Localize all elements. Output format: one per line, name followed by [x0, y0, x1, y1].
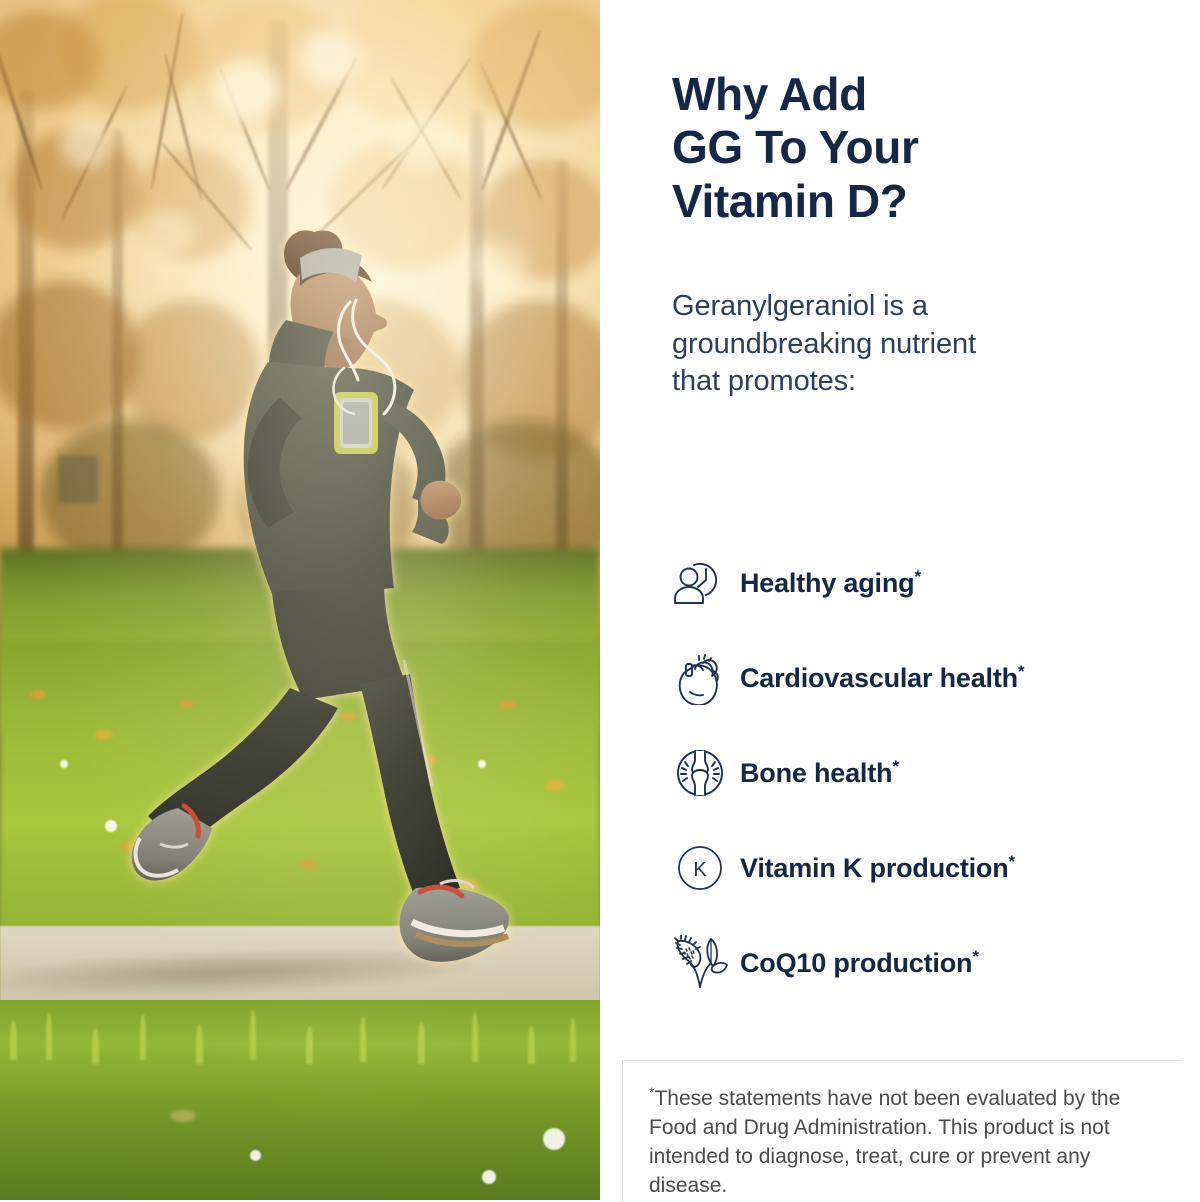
disclaimer-text: *These statements have not been evaluate… — [649, 1083, 1156, 1201]
bone-joint-icon — [660, 744, 740, 802]
headline-line-2: GG To Your — [672, 121, 918, 173]
person-clock-icon — [660, 554, 740, 612]
benefit-label: Bone health* — [740, 758, 899, 789]
benefit-item-healthy-aging: Healthy aging* — [660, 552, 1180, 614]
benefit-label: Healthy aging* — [740, 568, 921, 599]
subhead-line-1: Geranylgeraniol is a — [672, 290, 928, 322]
footnote-marker: * — [1009, 852, 1015, 871]
headline-line-3: Vitamin D? — [672, 175, 907, 227]
footnote-marker: * — [892, 757, 898, 776]
benefit-item-vitamin-k-production: K Vitamin K production* — [660, 837, 1180, 899]
content-panel: Why Add GG To Your Vitamin D? Geranylger… — [600, 0, 1200, 1200]
footnote-marker: * — [914, 567, 920, 586]
subheading: Geranylgeraniol is a groundbreaking nutr… — [672, 288, 1132, 401]
infographic-page: Why Add GG To Your Vitamin D? Geranylger… — [0, 0, 1200, 1200]
subhead-line-2: groundbreaking nutrient — [672, 328, 976, 360]
anatomical-heart-icon — [660, 649, 740, 707]
hero-photo — [0, 0, 600, 1200]
page-title: Why Add GG To Your Vitamin D? — [672, 68, 1152, 228]
benefit-label: Vitamin K production* — [740, 853, 1015, 884]
footnote-marker: * — [972, 947, 978, 966]
headline-line-1: Why Add — [672, 68, 867, 120]
benefit-item-coq10-production: CoQ10 production* — [660, 932, 1180, 994]
benefit-label: Cardiovascular health* — [740, 663, 1024, 694]
benefit-label: CoQ10 production* — [740, 948, 979, 979]
footnote-marker: * — [1018, 662, 1024, 681]
vitamin-k-circle-icon: K — [660, 839, 740, 897]
fda-disclaimer: *These statements have not been evaluate… — [622, 1060, 1182, 1202]
runner-figure — [0, 0, 600, 1200]
benefits-list: Healthy aging* Cardiovascu — [660, 552, 1180, 994]
benefit-item-bone-health: Bone health* — [660, 742, 1180, 804]
leaf-sprig-icon — [660, 934, 740, 992]
subhead-line-3: that promotes: — [672, 365, 856, 397]
benefit-item-cardiovascular-health: Cardiovascular health* — [660, 647, 1180, 709]
svg-text:K: K — [693, 859, 707, 881]
